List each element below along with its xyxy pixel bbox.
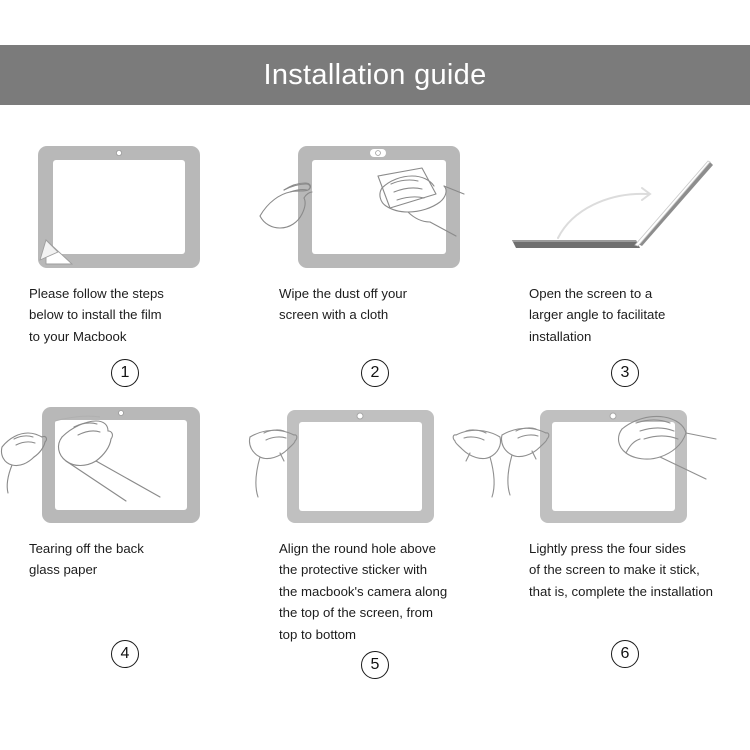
step-3-badge-wrap: 3 — [500, 359, 750, 387]
tablet-icon — [540, 410, 687, 523]
step-5-illustration — [250, 387, 500, 532]
step-card-1: Please follow the steps below to install… — [0, 132, 250, 387]
step-card-6: Lightly press the four sides of the scre… — [500, 387, 750, 679]
step-number-badge: 5 — [361, 651, 389, 679]
step-number-badge: 4 — [111, 640, 139, 668]
tablet-icon — [42, 407, 200, 523]
step-6-badge-wrap: 6 — [500, 640, 750, 668]
step-5-caption: Align the round hole above the protectiv… — [250, 532, 500, 645]
step-6-illustration — [500, 387, 750, 532]
step-number-badge: 1 — [111, 359, 139, 387]
step-card-3: Open the screen to a larger angle to fac… — [500, 132, 750, 387]
installation-guide-page: Installation guide Please follow th — [0, 0, 750, 750]
laptop-base-icon — [512, 240, 640, 248]
page-title: Installation guide — [263, 61, 486, 90]
step-1-illustration — [0, 132, 250, 277]
header-bar: Installation guide — [0, 45, 750, 105]
step-6-caption: Lightly press the four sides of the scre… — [500, 532, 750, 634]
step-number-badge: 2 — [361, 359, 389, 387]
steps-grid: Please follow the steps below to install… — [0, 132, 750, 679]
tablet-icon — [298, 146, 460, 268]
step-3-illustration — [500, 132, 750, 277]
step-5-badge-wrap: 5 — [250, 651, 500, 679]
step-card-5: Align the round hole above the protectiv… — [250, 387, 500, 679]
step-number-badge: 6 — [611, 640, 639, 668]
step-card-2: Wipe the dust off your screen with a clo… — [250, 132, 500, 387]
left-hand-icon — [1, 433, 46, 493]
laptop-lid-icon — [635, 161, 713, 246]
step-3-caption: Open the screen to a larger angle to fac… — [500, 277, 750, 349]
open-angle-arrow-icon — [558, 188, 650, 238]
step-2-caption: Wipe the dust off your screen with a clo… — [250, 277, 500, 349]
tablet-icon — [38, 146, 200, 268]
step-number-badge: 3 — [611, 359, 639, 387]
right-hand-icon — [453, 430, 500, 497]
step-2-illustration — [250, 132, 500, 277]
step-card-4: Tearing off the back glass paper 4 — [0, 387, 250, 679]
step-4-caption: Tearing off the back glass paper — [0, 532, 250, 634]
step-4-badge-wrap: 4 — [0, 640, 250, 668]
tablet-icon — [287, 410, 434, 523]
step-2-badge-wrap: 2 — [250, 359, 500, 387]
step-4-illustration — [0, 387, 250, 532]
step-1-badge-wrap: 1 — [0, 359, 250, 387]
step-1-caption: Please follow the steps below to install… — [0, 277, 250, 349]
